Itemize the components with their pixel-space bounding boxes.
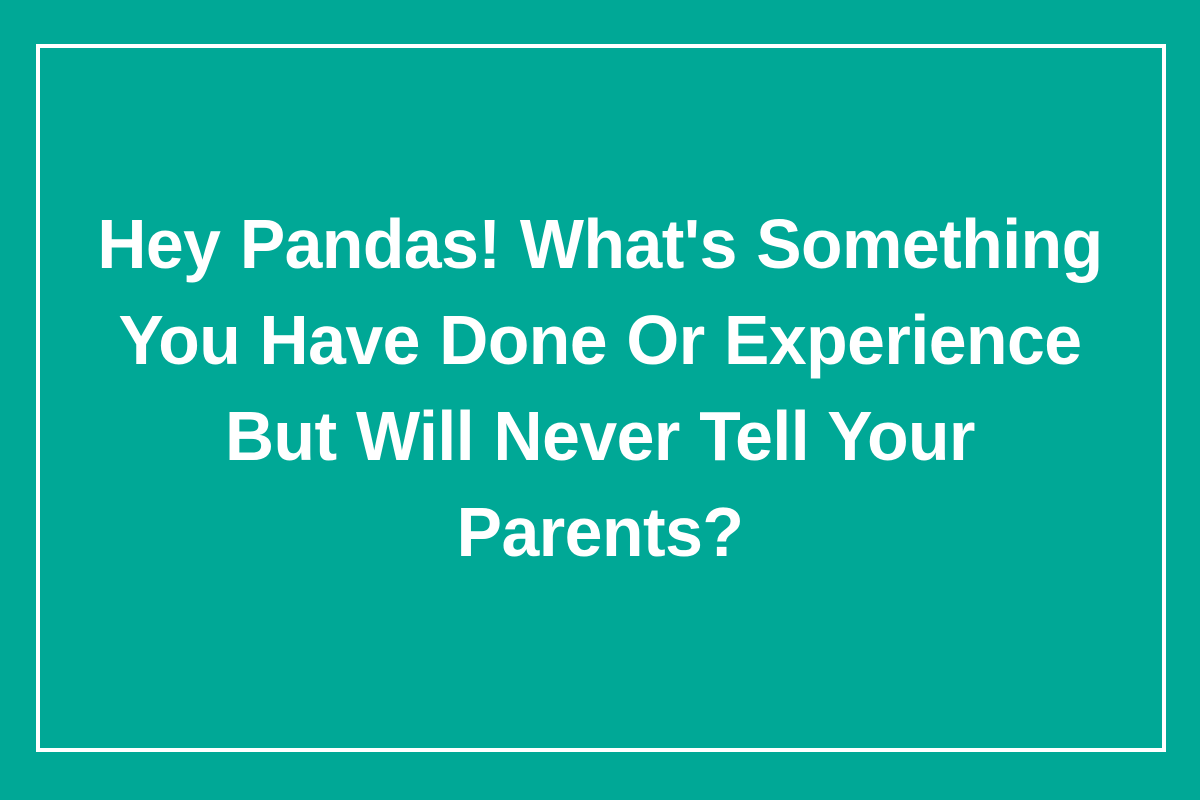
title-block: Hey Pandas! What's Something You Have Do… bbox=[60, 196, 1140, 580]
poster-canvas: Hey Pandas! What's Something You Have Do… bbox=[0, 0, 1200, 800]
page-title: Hey Pandas! What's Something You Have Do… bbox=[76, 196, 1124, 580]
